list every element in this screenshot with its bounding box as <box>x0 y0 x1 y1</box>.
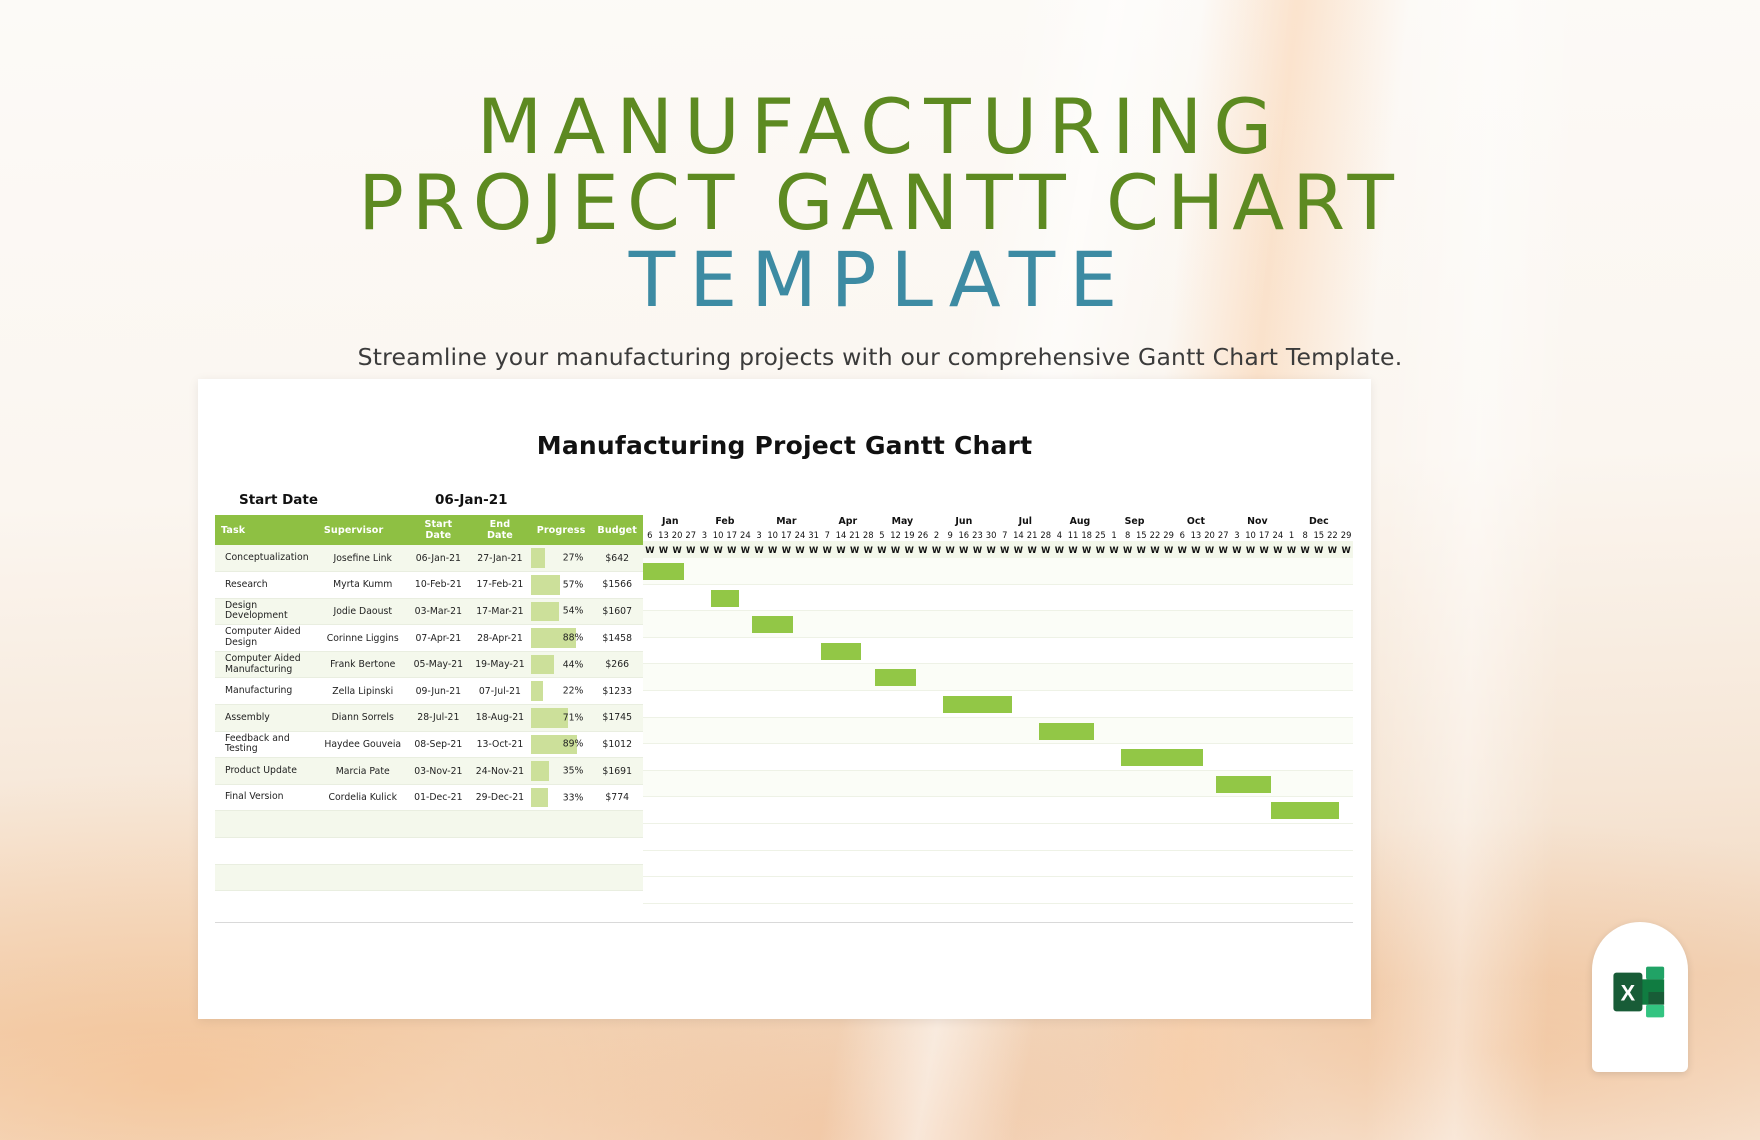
timeline-day-label: 25 <box>1094 528 1108 541</box>
cell-supervisor: Myrta Kumm <box>318 572 408 599</box>
timeline-week-marker: W <box>1271 541 1285 558</box>
timeline-week-marker: W <box>930 541 944 558</box>
cell-supervisor: Diann Sorrels <box>318 705 408 732</box>
cell-task: Final Version <box>215 784 318 811</box>
cell-budget: $1745 <box>591 705 643 732</box>
progress-value: 44% <box>563 659 584 670</box>
cell-budget: $1566 <box>591 572 643 599</box>
timeline-week-marker: W <box>1312 541 1326 558</box>
gantt-bars-area <box>643 558 1353 904</box>
table-row-empty[interactable] <box>215 838 643 865</box>
timeline-week-marker: W <box>1080 541 1094 558</box>
timeline-day-label: 13 <box>657 528 671 541</box>
timeline-week-marker: W <box>889 541 903 558</box>
timeline-day-label: 22 <box>1326 528 1340 541</box>
excel-file-icon: X <box>1611 963 1669 1021</box>
cell-empty <box>531 811 592 838</box>
timeline-day-label: 6 <box>1175 528 1189 541</box>
timeline-day-label: 7 <box>820 528 834 541</box>
cell-end-date: 13-Oct-21 <box>469 731 531 758</box>
gantt-bar[interactable] <box>1216 776 1271 793</box>
progress-value: 27% <box>563 553 584 564</box>
cell-budget: $774 <box>591 784 643 811</box>
timeline-wrapper: JanFebMarAprMayJunJulAugSepOctNovDec 613… <box>643 515 1353 904</box>
timeline-month-jul: Jul <box>998 515 1053 528</box>
timeline-week-marker: W <box>684 541 698 558</box>
progress-value: 57% <box>563 579 584 590</box>
start-date-strip: Start Date 06-Jan-21 <box>215 492 643 514</box>
cell-task: Research <box>215 572 318 599</box>
cell-empty <box>469 838 531 865</box>
timeline-day-row: 6132027310172431017243171421285121926291… <box>643 528 1353 541</box>
excel-file-badge[interactable]: X <box>1592 922 1688 1072</box>
cell-start-date: 06-Jan-21 <box>408 545 470 572</box>
cell-budget: $642 <box>591 545 643 572</box>
timeline-day-label: 18 <box>1080 528 1094 541</box>
timeline-week-marker: W <box>1094 541 1108 558</box>
timeline-month-row: JanFebMarAprMayJunJulAugSepOctNovDec <box>643 515 1353 528</box>
timeline-week-marker: W <box>1339 541 1353 558</box>
progress-value: 88% <box>563 633 584 644</box>
cell-budget: $1012 <box>591 731 643 758</box>
cell-supervisor: Cordelia Kulick <box>318 784 408 811</box>
timeline-week-marker: W <box>1189 541 1203 558</box>
timeline-day-label: 1 <box>1107 528 1121 541</box>
cell-task: Feedback and Testing <box>215 731 318 758</box>
timeline-day-label: 19 <box>902 528 916 541</box>
timeline-week-marker: W <box>943 541 957 558</box>
timeline-week-marker: W <box>916 541 930 558</box>
timeline-header-table: JanFebMarAprMayJunJulAugSepOctNovDec 613… <box>643 515 1353 558</box>
cell-budget: $1691 <box>591 758 643 785</box>
timeline-week-marker: W <box>1175 541 1189 558</box>
timeline-day-label: 24 <box>1271 528 1285 541</box>
timeline-week-row: WWWWWWWWWWWWWWWWWWWWWWWWWWWWWWWWWWWWWWWW… <box>643 541 1353 558</box>
cell-start-date: 28-Jul-21 <box>408 705 470 732</box>
table-row[interactable]: Product UpdateMarcia Pate03-Nov-2124-Nov… <box>215 758 643 785</box>
cell-task: Assembly <box>215 705 318 732</box>
cell-progress: 22% <box>531 678 592 705</box>
gantt-row-empty <box>643 824 1353 851</box>
timeline-day-label: 29 <box>1339 528 1353 541</box>
timeline-day-label: 11 <box>1066 528 1080 541</box>
timeline-day-label: 27 <box>1216 528 1230 541</box>
gantt-bar[interactable] <box>752 616 793 633</box>
cell-task: Conceptualization <box>215 545 318 572</box>
table-row[interactable]: AssemblyDiann Sorrels28-Jul-2118-Aug-217… <box>215 705 643 732</box>
gantt-bar[interactable] <box>875 669 916 686</box>
timeline-day-label: 16 <box>957 528 971 541</box>
column-header-start-date[interactable]: Start Date <box>408 515 470 545</box>
cell-empty <box>531 838 592 865</box>
cell-empty <box>318 864 408 891</box>
timeline-day-label: 4 <box>1053 528 1067 541</box>
timeline-week-marker: W <box>820 541 834 558</box>
gantt-row-empty <box>643 877 1353 904</box>
column-header-task[interactable]: Task <box>215 515 318 545</box>
progress-fill <box>531 788 548 808</box>
chart-title: Manufacturing Project Gantt Chart <box>198 431 1371 460</box>
gantt-row <box>643 611 1353 638</box>
cell-start-date: 05-May-21 <box>408 651 470 678</box>
cell-empty <box>318 838 408 865</box>
timeline-week-marker: W <box>848 541 862 558</box>
gantt-bar[interactable] <box>943 696 1011 713</box>
cell-supervisor: Marcia Pate <box>318 758 408 785</box>
cell-task: Computer Aided Design <box>215 625 318 652</box>
gantt-row <box>643 558 1353 585</box>
timeline-day-label: 31 <box>807 528 821 541</box>
timeline-day-label: 28 <box>1039 528 1053 541</box>
timeline-week-marker: W <box>1053 541 1067 558</box>
table-row-empty[interactable] <box>215 864 643 891</box>
cell-progress: 89% <box>531 731 592 758</box>
timeline-day-label: 24 <box>793 528 807 541</box>
timeline-month-sep: Sep <box>1107 515 1162 528</box>
cell-start-date: 07-Apr-21 <box>408 625 470 652</box>
cell-empty <box>318 811 408 838</box>
timeline-week-marker: W <box>1285 541 1299 558</box>
progress-value: 71% <box>563 712 584 723</box>
timeline-week-marker: W <box>711 541 725 558</box>
cell-end-date: 24-Nov-21 <box>469 758 531 785</box>
svg-text:X: X <box>1621 980 1636 1005</box>
cell-supervisor: Haydee Gouveia <box>318 731 408 758</box>
timeline-day-label: 12 <box>889 528 903 541</box>
cell-task: Product Update <box>215 758 318 785</box>
start-date-value[interactable]: 06-Jan-21 <box>435 492 508 508</box>
cell-empty <box>408 864 470 891</box>
timeline-day-label: 3 <box>1230 528 1244 541</box>
table-row[interactable]: ConceptualizationJosefine Link06-Jan-212… <box>215 545 643 572</box>
gantt-bar[interactable] <box>1039 723 1094 740</box>
progress-fill <box>531 761 549 781</box>
gantt-row <box>643 718 1353 745</box>
table-row[interactable]: ManufacturingZella Lipinski09-Jun-2107-J… <box>215 678 643 705</box>
timeline-day-label: 27 <box>684 528 698 541</box>
timeline-week-marker: W <box>957 541 971 558</box>
gantt-row <box>643 691 1353 718</box>
timeline-week-marker: W <box>766 541 780 558</box>
timeline-week-marker: W <box>739 541 753 558</box>
timeline-day-label: 24 <box>739 528 753 541</box>
timeline-week-marker: W <box>793 541 807 558</box>
cell-progress: 35% <box>531 758 592 785</box>
cell-empty <box>469 864 531 891</box>
cell-empty <box>531 864 592 891</box>
gantt-row <box>643 771 1353 798</box>
timeline-week-marker: W <box>1107 541 1121 558</box>
task-table: TaskSupervisorStart DateEnd DateProgress… <box>215 515 643 891</box>
timeline-month-oct: Oct <box>1162 515 1230 528</box>
column-header-end-date[interactable]: End Date <box>469 515 531 545</box>
table-body: ConceptualizationJosefine Link06-Jan-212… <box>215 545 643 891</box>
timeline-week-marker: W <box>725 541 739 558</box>
timeline-week-marker: W <box>1244 541 1258 558</box>
table-header-row: TaskSupervisorStart DateEnd DateProgress… <box>215 515 643 545</box>
cell-budget: $1233 <box>591 678 643 705</box>
gantt-bar[interactable] <box>821 643 862 660</box>
timeline-month-dec: Dec <box>1285 515 1353 528</box>
cell-supervisor: Frank Bertone <box>318 651 408 678</box>
cell-empty <box>408 838 470 865</box>
table-row-empty[interactable] <box>215 811 643 838</box>
gantt-bar[interactable] <box>1121 749 1203 766</box>
cell-progress: 44% <box>531 651 592 678</box>
timeline-week-marker: W <box>780 541 794 558</box>
timeline-month-mar: Mar <box>752 515 820 528</box>
timeline-day-label: 2 <box>930 528 944 541</box>
timeline-week-marker: W <box>1298 541 1312 558</box>
timeline-day-label: 21 <box>848 528 862 541</box>
timeline-week-marker: W <box>1326 541 1340 558</box>
cell-empty <box>408 811 470 838</box>
progress-value: 54% <box>563 606 584 617</box>
timeline-month-nov: Nov <box>1230 515 1285 528</box>
timeline-week-marker: W <box>1039 541 1053 558</box>
progress-value: 35% <box>563 766 584 777</box>
hero-title-line-3: TEMPLATE <box>0 243 1760 317</box>
timeline-week-marker: W <box>834 541 848 558</box>
timeline-day-label: 17 <box>725 528 739 541</box>
cell-end-date: 07-Jul-21 <box>469 678 531 705</box>
timeline-day-label: 17 <box>780 528 794 541</box>
gantt-bar[interactable] <box>643 563 684 580</box>
timeline-day-label: 7 <box>998 528 1012 541</box>
timeline-day-label: 23 <box>971 528 985 541</box>
timeline-day-label: 17 <box>1257 528 1271 541</box>
cell-progress: 27% <box>531 545 592 572</box>
gantt-bar[interactable] <box>1271 802 1339 819</box>
cell-empty <box>215 864 318 891</box>
timeline-week-marker: W <box>971 541 985 558</box>
timeline-day-label: 15 <box>1312 528 1326 541</box>
timeline-day-label: 3 <box>698 528 712 541</box>
timeline-day-label: 10 <box>1244 528 1258 541</box>
progress-fill <box>531 655 554 675</box>
timeline-month-may: May <box>875 515 930 528</box>
hero-title-line-2: PROJECT GANTT CHART <box>0 166 1760 240</box>
cell-end-date: 29-Dec-21 <box>469 784 531 811</box>
cell-supervisor: Zella Lipinski <box>318 678 408 705</box>
timeline-week-marker: W <box>698 541 712 558</box>
timeline-week-marker: W <box>1025 541 1039 558</box>
timeline-day-label: 5 <box>875 528 889 541</box>
cell-end-date: 27-Jan-21 <box>469 545 531 572</box>
timeline-day-label: 14 <box>1012 528 1026 541</box>
timeline-month-apr: Apr <box>820 515 875 528</box>
timeline-week-marker: W <box>875 541 889 558</box>
timeline-day-label: 8 <box>1298 528 1312 541</box>
timeline-day-label: 20 <box>1203 528 1217 541</box>
cell-progress: 88% <box>531 625 592 652</box>
hero-heading-block: MANUFACTURING PROJECT GANTT CHART TEMPLA… <box>0 90 1760 371</box>
timeline-month-aug: Aug <box>1053 515 1108 528</box>
progress-fill <box>531 575 561 595</box>
cell-task: Manufacturing <box>215 678 318 705</box>
gantt-row <box>643 797 1353 824</box>
cell-empty <box>469 811 531 838</box>
table-row[interactable]: Computer Aided ManufacturingFrank Berton… <box>215 651 643 678</box>
timeline-day-label: 6 <box>643 528 657 541</box>
cell-supervisor: Corinne Liggins <box>318 625 408 652</box>
timeline-week-marker: W <box>1066 541 1080 558</box>
hero-subtitle: Streamline your manufacturing projects w… <box>0 343 1760 371</box>
timeline-week-marker: W <box>902 541 916 558</box>
cell-end-date: 19-May-21 <box>469 651 531 678</box>
progress-value: 22% <box>563 686 584 697</box>
cell-supervisor: Jodie Daoust <box>318 598 408 625</box>
timeline-day-label: 15 <box>1134 528 1148 541</box>
timeline-day-label: 14 <box>834 528 848 541</box>
cell-progress: 71% <box>531 705 592 732</box>
cell-budget: $1607 <box>591 598 643 625</box>
cell-task: Computer Aided Manufacturing <box>215 651 318 678</box>
timeline-week-marker: W <box>1230 541 1244 558</box>
timeline-day-label: 26 <box>916 528 930 541</box>
cell-start-date: 08-Sep-21 <box>408 731 470 758</box>
timeline-day-label: 1 <box>1285 528 1299 541</box>
timeline-month-feb: Feb <box>698 515 753 528</box>
progress-fill <box>531 602 559 622</box>
gantt-row <box>643 585 1353 612</box>
timeline-week-marker: W <box>807 541 821 558</box>
timeline-week-marker: W <box>1134 541 1148 558</box>
hero-title-line-1: MANUFACTURING <box>0 90 1760 164</box>
gantt-row-empty <box>643 851 1353 878</box>
timeline-day-label: 28 <box>861 528 875 541</box>
table-row[interactable]: ResearchMyrta Kumm10-Feb-2117-Feb-2157%$… <box>215 572 643 599</box>
timeline-week-marker: W <box>1162 541 1176 558</box>
progress-value: 33% <box>563 792 584 803</box>
cell-empty <box>591 811 643 838</box>
timeline-week-marker: W <box>1148 541 1162 558</box>
cell-empty <box>215 811 318 838</box>
cell-budget: $266 <box>591 651 643 678</box>
cell-empty <box>215 838 318 865</box>
gantt-row <box>643 744 1353 771</box>
column-header-budget[interactable]: Budget <box>591 515 643 545</box>
timeline-week-marker: W <box>657 541 671 558</box>
timeline-week-marker: W <box>861 541 875 558</box>
timeline-month-jan: Jan <box>643 515 698 528</box>
grid-bottom-rule <box>215 922 1353 923</box>
gantt-row <box>643 638 1353 665</box>
cell-task: Design Development <box>215 598 318 625</box>
cell-end-date: 17-Mar-21 <box>469 598 531 625</box>
timeline-day-label: 8 <box>1121 528 1135 541</box>
timeline-week-marker: W <box>998 541 1012 558</box>
start-date-label: Start Date <box>239 492 318 508</box>
cell-progress: 33% <box>531 784 592 811</box>
cell-start-date: 01-Dec-21 <box>408 784 470 811</box>
column-header-supervisor[interactable]: Supervisor <box>318 515 408 545</box>
spreadsheet-document: Manufacturing Project Gantt Chart Start … <box>198 379 1371 1019</box>
timeline-week-marker: W <box>1203 541 1217 558</box>
timeline-day-label: 10 <box>711 528 725 541</box>
cell-progress: 57% <box>531 572 592 599</box>
cell-start-date: 03-Nov-21 <box>408 758 470 785</box>
timeline-week-marker: W <box>643 541 657 558</box>
cell-end-date: 28-Apr-21 <box>469 625 531 652</box>
timeline-week-marker: W <box>1216 541 1230 558</box>
task-table-wrapper: TaskSupervisorStart DateEnd DateProgress… <box>215 515 643 891</box>
table-row[interactable]: Feedback and TestingHaydee Gouveia08-Sep… <box>215 731 643 758</box>
timeline-day-label: 20 <box>670 528 684 541</box>
timeline-day-label: 3 <box>752 528 766 541</box>
cell-start-date: 09-Jun-21 <box>408 678 470 705</box>
cell-end-date: 17-Feb-21 <box>469 572 531 599</box>
cell-empty <box>591 864 643 891</box>
timeline-day-label: 9 <box>943 528 957 541</box>
timeline-week-marker: W <box>1012 541 1026 558</box>
timeline-month-jun: Jun <box>930 515 998 528</box>
timeline-week-marker: W <box>984 541 998 558</box>
progress-value: 89% <box>563 739 584 750</box>
cell-start-date: 10-Feb-21 <box>408 572 470 599</box>
cell-progress: 54% <box>531 598 592 625</box>
timeline-week-marker: W <box>752 541 766 558</box>
table-row[interactable]: Computer Aided DesignCorinne Liggins07-A… <box>215 625 643 652</box>
timeline-week-marker: W <box>1257 541 1271 558</box>
progress-fill <box>531 548 545 568</box>
timeline-day-label: 13 <box>1189 528 1203 541</box>
timeline-day-label: 21 <box>1025 528 1039 541</box>
cell-start-date: 03-Mar-21 <box>408 598 470 625</box>
progress-fill <box>531 681 543 701</box>
timeline-day-label: 29 <box>1162 528 1176 541</box>
timeline-day-label: 30 <box>984 528 998 541</box>
table-row[interactable]: Design DevelopmentJodie Daoust03-Mar-211… <box>215 598 643 625</box>
gantt-row <box>643 664 1353 691</box>
cell-end-date: 18-Aug-21 <box>469 705 531 732</box>
cell-budget: $1458 <box>591 625 643 652</box>
timeline-day-label: 22 <box>1148 528 1162 541</box>
table-row[interactable]: Final VersionCordelia Kulick01-Dec-2129-… <box>215 784 643 811</box>
timeline-week-marker: W <box>1121 541 1135 558</box>
gantt-bar[interactable] <box>711 590 738 607</box>
column-header-progress[interactable]: Progress <box>531 515 592 545</box>
cell-supervisor: Josefine Link <box>318 545 408 572</box>
cell-empty <box>591 838 643 865</box>
timeline-week-marker: W <box>670 541 684 558</box>
timeline-day-label: 10 <box>766 528 780 541</box>
